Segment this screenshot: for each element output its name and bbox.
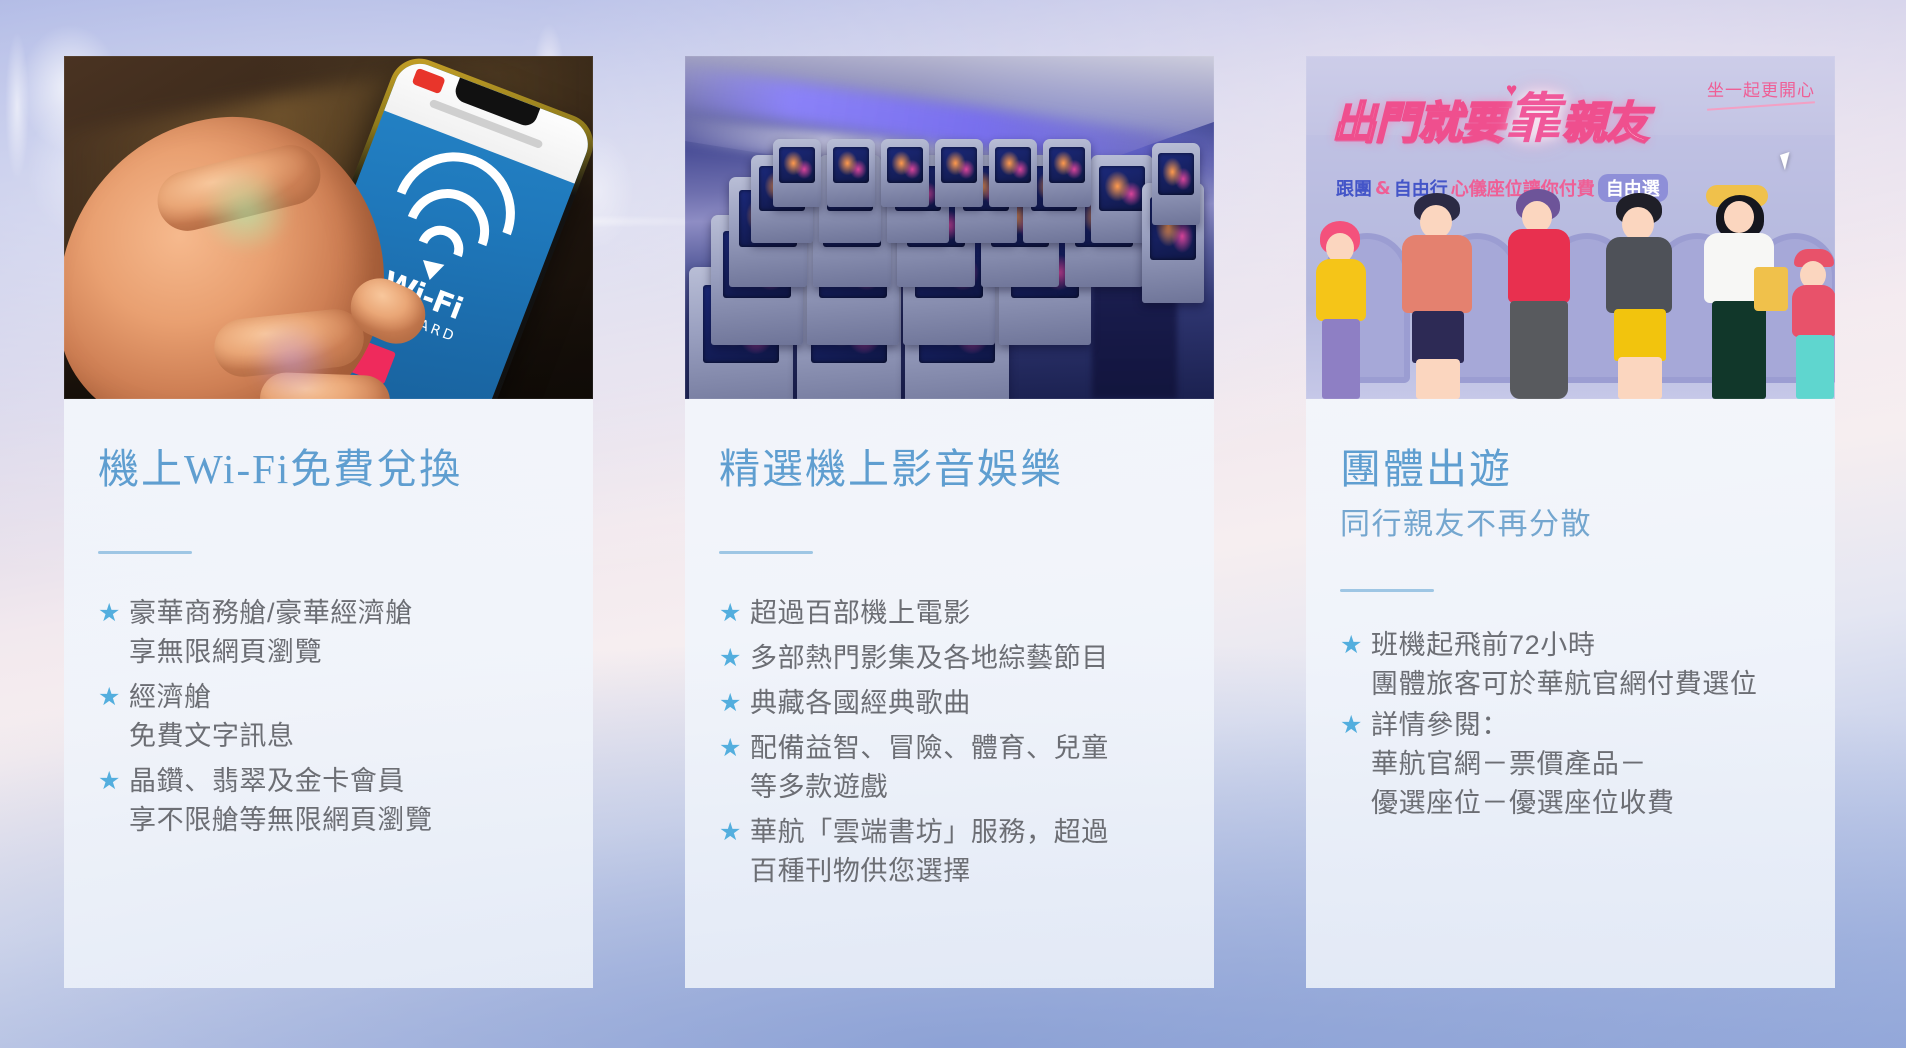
seatback-screen bbox=[833, 147, 869, 182]
list-item: ★ 超過百部機上電影 bbox=[719, 594, 1180, 633]
promo-corner-text: 坐一起更開心 bbox=[1707, 81, 1815, 101]
list-item-line: 典藏各國經典歌曲 bbox=[750, 684, 971, 723]
promo-traveler-illustrations bbox=[1306, 159, 1835, 399]
list-item-line: 免費文字訊息 bbox=[129, 717, 295, 756]
legs bbox=[1412, 311, 1464, 363]
card-image-group-travel-promo-illustration: 出門就要 靠 親友 ♥ 坐一起更開心 跟團 & 自由行 心儀座位讓你付費 自由選 bbox=[1306, 56, 1835, 399]
card-image-hand-holding-phone-wifi-onboard: Wi-Fi ONBOARD bbox=[64, 56, 593, 399]
list-item-line: 華航「雲端書坊」服務，超過 bbox=[750, 813, 1109, 852]
head bbox=[1622, 207, 1654, 241]
feature-card-group-travel[interactable]: 出門就要 靠 親友 ♥ 坐一起更開心 跟團 & 自由行 心儀座位讓你付費 自由選 bbox=[1306, 56, 1835, 988]
list-item-line: 等多款遊戲 bbox=[750, 768, 1109, 807]
seatback-screen bbox=[779, 147, 815, 182]
list-item-line: 團體旅客可於華航官網付費選位 bbox=[1371, 665, 1757, 704]
star-icon: ★ bbox=[98, 762, 121, 801]
list-item: ★ 典藏各國經典歌曲 bbox=[719, 684, 1180, 723]
title-divider bbox=[719, 551, 813, 554]
list-item: ★ 華航「雲端書坊」服務，超過 百種刊物供您選擇 bbox=[719, 813, 1180, 891]
card-body-wifi: 機上Wi-Fi免費兌換 ★ 豪華商務艙/豪華經濟艙 享無限網頁瀏覽 ★ 經濟艙 … bbox=[64, 399, 593, 988]
torso bbox=[1792, 285, 1835, 337]
list-item-line: 晶鑽、翡翠及金卡會員 bbox=[129, 762, 433, 801]
feature-bullet-list: ★ 豪華商務艙/豪華經濟艙 享無限網頁瀏覽 ★ 經濟艙 免費文字訊息 ★ bbox=[98, 594, 559, 839]
tote-bag bbox=[1754, 267, 1788, 311]
promo-headline-part1: 出門就要 bbox=[1332, 102, 1504, 146]
card-title: 精選機上影音娛樂 bbox=[719, 445, 1180, 493]
star-icon: ★ bbox=[719, 729, 742, 768]
legs bbox=[1796, 335, 1834, 399]
green-light-reflection bbox=[182, 152, 312, 272]
seatback-screen bbox=[1099, 166, 1145, 212]
seatback-screen bbox=[995, 147, 1031, 182]
list-item: ★ 豪華商務艙/豪華經濟艙 享無限網頁瀏覽 bbox=[98, 594, 559, 672]
list-item-line: 華航官網－票價產品－ bbox=[1371, 745, 1675, 784]
card-body-group-travel: 團體出遊 同行親友不再分散 ★ 班機起飛前72小時 團體旅客可於華航官網付費選位… bbox=[1306, 399, 1835, 988]
star-icon: ★ bbox=[98, 678, 121, 717]
list-item-line: 經濟艙 bbox=[129, 678, 295, 717]
seatback-screen bbox=[941, 147, 977, 182]
list-item-line: 享不限艙等無限網頁瀏覽 bbox=[129, 801, 433, 840]
cabin-seat-rows bbox=[685, 186, 1214, 399]
list-item-line: 班機起飛前72小時 bbox=[1371, 626, 1757, 665]
list-item-line: 百種刊物供您選擇 bbox=[750, 852, 1109, 891]
traveler-figure-child bbox=[1788, 249, 1835, 399]
seat-with-screen bbox=[773, 139, 821, 207]
legs bbox=[1322, 319, 1360, 399]
seatback-screen bbox=[887, 147, 923, 182]
feature-bullet-list: ★ 超過百部機上電影 ★ 多部熱門影集及各地綜藝節目 ★ 典藏各國經典歌曲 ★ … bbox=[719, 594, 1180, 891]
head bbox=[1420, 205, 1452, 239]
traveler-figure bbox=[1398, 193, 1482, 399]
list-item: ★ 多部熱門影集及各地綜藝節目 bbox=[719, 639, 1180, 678]
seat-with-screen bbox=[935, 139, 983, 207]
feature-card-wifi[interactable]: Wi-Fi ONBOARD 機上Wi-Fi免費兌換 ★ bbox=[64, 56, 593, 988]
seat-with-screen bbox=[827, 139, 875, 207]
promo-headline-part2: 親友 bbox=[1562, 102, 1648, 146]
list-item-line: 超過百部機上電影 bbox=[750, 594, 971, 633]
traveler-figure bbox=[1310, 221, 1380, 399]
feature-card-entertainment[interactable]: 精選機上影音娛樂 ★ 超過百部機上電影 ★ 多部熱門影集及各地綜藝節目 ★ 典藏… bbox=[685, 56, 1214, 988]
seat-with-screen bbox=[1043, 139, 1091, 207]
star-icon: ★ bbox=[98, 594, 121, 633]
list-item-line: 多部熱門影集及各地綜藝節目 bbox=[750, 639, 1109, 678]
trousers bbox=[1712, 301, 1766, 399]
feature-bullet-list: ★ 班機起飛前72小時 團體旅客可於華航官網付費選位 ★ 詳情參閱： 華航官網－… bbox=[1340, 626, 1801, 822]
list-item-line: 配備益智、冒險、體育、兒童 bbox=[750, 729, 1109, 768]
list-item-line: 詳情參閱： bbox=[1371, 706, 1675, 745]
seatback-screen bbox=[1049, 147, 1085, 182]
head bbox=[1724, 201, 1754, 233]
feature-cards-row: Wi-Fi ONBOARD 機上Wi-Fi免費兌換 ★ bbox=[64, 56, 1836, 988]
traveler-figure bbox=[1502, 189, 1580, 399]
list-item: ★ 晶鑽、翡翠及金卡會員 享不限艙等無限網頁瀏覽 bbox=[98, 762, 559, 840]
seat-with-screen bbox=[1152, 143, 1200, 225]
list-item: ★ 經濟艙 免費文字訊息 bbox=[98, 678, 559, 756]
star-icon: ★ bbox=[1340, 706, 1363, 745]
seatback-screen bbox=[1158, 153, 1194, 196]
card-title: 機上Wi-Fi免費兌換 bbox=[98, 445, 559, 493]
title-divider bbox=[1340, 589, 1434, 592]
torso bbox=[1508, 229, 1570, 303]
skirt bbox=[1510, 301, 1568, 399]
torso bbox=[1316, 259, 1366, 321]
torso bbox=[1606, 237, 1672, 313]
shorts bbox=[1614, 309, 1666, 361]
card-body-entertainment: 精選機上影音娛樂 ★ 超過百部機上電影 ★ 多部熱門影集及各地綜藝節目 ★ 典藏… bbox=[685, 399, 1214, 988]
card-image-aircraft-cabin-seatback-screens bbox=[685, 56, 1214, 399]
star-icon: ★ bbox=[1340, 626, 1363, 665]
list-item: ★ 配備益智、冒險、體育、兒童 等多款遊戲 bbox=[719, 729, 1180, 807]
list-item-line: 優選座位－優選座位收費 bbox=[1371, 784, 1675, 823]
lower-legs bbox=[1618, 357, 1662, 399]
star-icon: ★ bbox=[719, 594, 742, 633]
list-item-line: 豪華商務艙/豪華經濟艙 bbox=[129, 594, 413, 633]
heart-icon: ♥ bbox=[1506, 80, 1517, 102]
star-icon: ★ bbox=[719, 684, 742, 723]
seat-with-screen bbox=[881, 139, 929, 207]
list-item: ★ 班機起飛前72小時 團體旅客可於華航官網付費選位 bbox=[1340, 626, 1801, 704]
torso bbox=[1402, 235, 1472, 313]
promo-headline: 出門就要 靠 親友 bbox=[1332, 92, 1648, 146]
list-item-line: 享無限網頁瀏覽 bbox=[129, 633, 413, 672]
promo-corner-tag: 坐一起更開心 bbox=[1707, 76, 1815, 107]
traveler-figure bbox=[1698, 185, 1784, 399]
purple-light-reflection bbox=[232, 306, 352, 399]
traveler-figure bbox=[1600, 193, 1682, 399]
card-title: 團體出遊 bbox=[1340, 445, 1801, 493]
star-icon: ★ bbox=[719, 639, 742, 678]
star-icon: ★ bbox=[719, 813, 742, 852]
list-item: ★ 詳情參閱： 華航官網－票價產品－ 優選座位－優選座位收費 bbox=[1340, 706, 1801, 823]
seat-with-screen bbox=[989, 139, 1037, 207]
card-subtitle: 同行親友不再分散 bbox=[1340, 499, 1801, 543]
lower-legs bbox=[1416, 359, 1460, 399]
title-divider bbox=[98, 551, 192, 554]
